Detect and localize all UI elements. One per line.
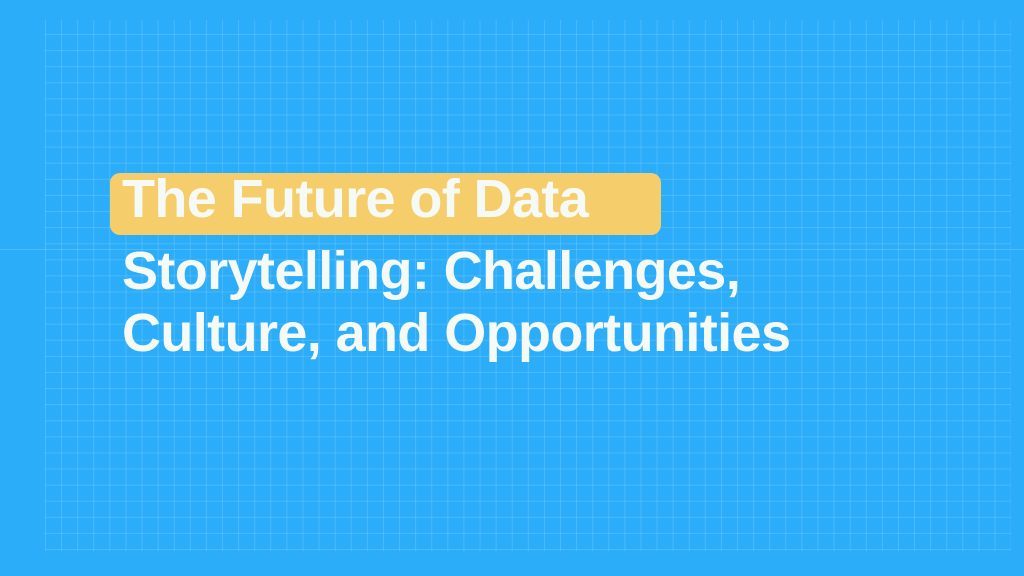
title-line-2: Storytelling: Challenges, [110, 240, 980, 302]
title-line-3: Culture, and Opportunities [110, 302, 980, 364]
title-line-1-container: The Future of Data [110, 168, 980, 240]
title-line-1: The Future of Data [110, 168, 980, 230]
title-line-1-text: The Future of Data [110, 168, 600, 230]
slide-title-block: The Future of Data Storytelling: Challen… [110, 168, 980, 364]
title-slide: The Future of Data Storytelling: Challen… [0, 0, 1024, 576]
